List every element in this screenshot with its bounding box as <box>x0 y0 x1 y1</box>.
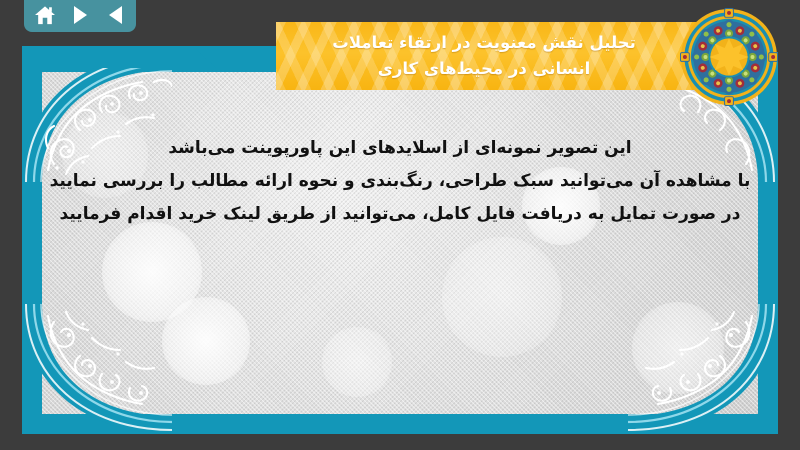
previous-slide-button[interactable] <box>104 4 126 26</box>
frame-bottom <box>0 434 800 450</box>
body-line-1: این تصویر نمونه‌ای از اسلایدهای این پاور… <box>40 132 760 165</box>
home-button[interactable] <box>34 4 56 26</box>
home-icon <box>34 5 56 25</box>
slide-viewer: این تصویر نمونه‌ای از اسلایدهای این پاور… <box>0 0 800 450</box>
frame-left <box>0 0 22 450</box>
next-slide-button[interactable] <box>69 4 91 26</box>
slide-panel <box>22 52 778 434</box>
body-line-3: در صورت تمایل به دریافت فایل کامل، می‌تو… <box>40 198 760 231</box>
title-line-2: انسانی در محیط‌های کاری <box>378 56 591 82</box>
triangle-left-icon <box>109 6 122 24</box>
mandala-medallion <box>680 8 778 106</box>
body-line-2: با مشاهده آن می‌توانید سبک طراحی، رنگ‌بن… <box>40 165 760 198</box>
title-line-1: تحلیل نقش معنویت در ارتقاء تعاملات <box>332 30 636 56</box>
bokeh-circle <box>442 237 562 357</box>
bokeh-circle <box>102 222 202 322</box>
frame-right <box>778 0 800 450</box>
bokeh-circle <box>162 297 250 385</box>
bokeh-circle <box>632 302 724 394</box>
triangle-right-icon <box>74 6 87 24</box>
slide-navigation <box>24 0 136 32</box>
slide-body-text: این تصویر نمونه‌ای از اسلایدهای این پاور… <box>40 132 760 231</box>
slide-content-background <box>42 72 758 414</box>
bokeh-circle <box>322 327 392 397</box>
